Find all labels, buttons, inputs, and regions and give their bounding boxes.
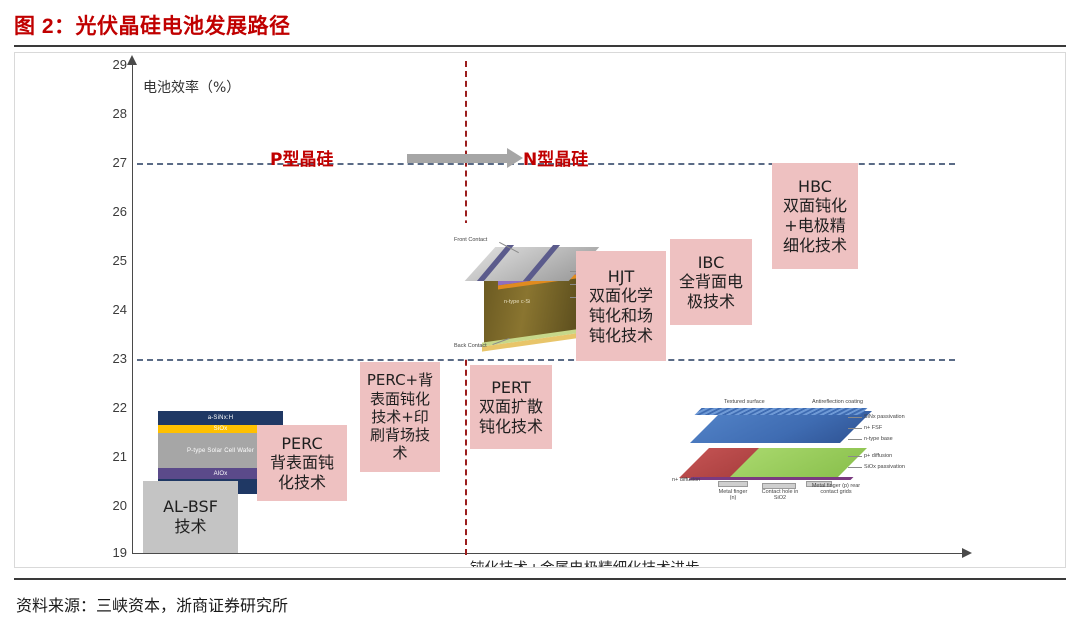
bottom-note: 钝化技术+金属电极精细化技术进步 [470, 557, 700, 568]
node-hbc-line-3: 细化技术 [783, 236, 847, 256]
plot-area: 29 28 27 26 25 24 23 22 21 20 19 电池效率（%） [15, 53, 1066, 568]
y-tick-25: 25 [99, 253, 127, 268]
ibc-textured-surface [695, 408, 868, 415]
node-ibc-line-0: IBC [698, 253, 725, 273]
page-title: 图 2：光伏晶硅电池发展路径 [14, 10, 291, 40]
ibc-label-ntype-base: n-type base [864, 436, 893, 442]
node-perc-plus-line-3: 刷背场技 [370, 426, 430, 444]
y-tick-26: 26 [99, 204, 127, 219]
y-tick-24: 24 [99, 302, 127, 317]
node-al-bsf-line-0: AL-BSF [163, 497, 218, 517]
node-perc-plus-line-0: PERC+背 [367, 371, 433, 389]
progress-arrow-icon [407, 154, 507, 163]
x-axis-line [132, 553, 962, 554]
node-hbc-line-1: 双面钝化 [783, 196, 847, 216]
ibc-label-p-diffusion: p+ diffusion [864, 453, 892, 459]
source-note: 资料来源：三峡资本，浙商证券研究所 [16, 592, 288, 616]
ibc-label-contact-hole: Contact hole in SiO2 [760, 489, 800, 501]
node-perc[interactable]: PERC 背表面钝 化技术 [257, 425, 347, 501]
y-tick-28: 28 [99, 106, 127, 121]
ibc-metal-pad-1 [718, 481, 748, 487]
node-hjt[interactable]: HJT 双面化学 钝化和场 钝化技术 [576, 251, 666, 361]
x-axis-arrow [962, 548, 972, 558]
ibc-leader-1 [848, 417, 862, 418]
node-pert[interactable]: PERT 双面扩散 钝化技术 [470, 365, 552, 449]
node-perc-plus-line-1: 表面钝化 [370, 390, 430, 408]
y-axis-ticks: 29 28 27 26 25 24 23 22 21 20 19 [93, 53, 127, 568]
node-perc-line-0: PERC [281, 434, 322, 454]
node-perc-plus[interactable]: PERC+背 表面钝化 技术+印 刷背场技 术 [360, 362, 440, 472]
node-pert-line-2: 钝化技术 [479, 417, 543, 437]
y-axis-label: 电池效率（%） [143, 77, 240, 97]
ibc-rear-edge [689, 477, 854, 480]
gridline-23 [137, 359, 955, 361]
node-pert-line-1: 双面扩散 [479, 397, 543, 417]
node-hjt-line-0: HJT [608, 267, 635, 287]
node-ibc-line-1: 全背面电 [679, 272, 743, 292]
node-pert-line-0: PERT [491, 378, 530, 398]
ibc-leader-3 [848, 439, 862, 440]
node-hjt-line-3: 钝化技术 [589, 326, 653, 346]
ibc-leader-5 [848, 467, 862, 468]
region-label-n-type: N型晶硅 [523, 145, 588, 170]
ibc-label-siox-passivation: SiOx passivation [864, 464, 905, 470]
node-perc-plus-line-4: 术 [392, 444, 407, 462]
ibc-label-antireflection: Antireflection coating [812, 399, 863, 405]
ibc-top-surface [690, 411, 872, 443]
node-hbc-line-2: +电极精 [784, 216, 845, 236]
footer-divider [14, 578, 1066, 580]
ibc-label-n-fsf: n+ FSF [864, 425, 882, 431]
node-perc-plus-line-2: 技术+印 [371, 408, 429, 426]
y-tick-22: 22 [99, 400, 127, 415]
stack-layer-sinx-top: a-SiNx:H [158, 411, 283, 425]
node-hbc-line-0: HBC [798, 177, 832, 197]
y-tick-20: 20 [99, 498, 127, 513]
node-hjt-line-2: 钝化和场 [589, 306, 653, 326]
ibc-label-textured-surface: Textured surface [724, 399, 765, 405]
ibc-label-metal-finger-p: Metal finger (p) rear contact grids [806, 483, 866, 495]
figure-page: 图 2：光伏晶硅电池发展路径 29 28 27 26 25 24 23 22 2… [0, 0, 1080, 628]
node-al-bsf-line-1: 技术 [174, 517, 206, 537]
y-tick-27: 27 [99, 155, 127, 170]
ibc-leader-2 [848, 428, 862, 429]
ibc-label-sinx-passivation: SiNx passivation [864, 414, 905, 420]
node-ibc[interactable]: IBC 全背面电 极技术 [670, 239, 752, 325]
hjt-label-ntype-csi: n-type c-Si [504, 299, 530, 305]
hjt-label-back-contact: Back Contact [454, 343, 487, 349]
node-perc-line-2: 化技术 [278, 473, 326, 493]
hjt-label-front-contact: Front Contact [454, 237, 487, 243]
chart-container: 29 28 27 26 25 24 23 22 21 20 19 电池效率（%） [14, 52, 1066, 568]
region-label-p-type: P型晶硅 [270, 145, 333, 170]
ibc-label-n-diffusion: n+ diffusion [672, 477, 700, 483]
y-tick-29: 29 [99, 57, 127, 72]
y-tick-21: 21 [99, 449, 127, 464]
node-ibc-line-2: 极技术 [687, 292, 735, 312]
ibc-label-metal-finger-n: Metal finger (n) [716, 489, 750, 501]
node-hbc[interactable]: HBC 双面钝化 +电极精 细化技术 [772, 163, 858, 269]
node-perc-line-1: 背表面钝 [270, 453, 334, 473]
node-al-bsf[interactable]: AL-BSF 技术 [143, 481, 238, 553]
ibc-cell-3d-diagram: Textured surface Antireflection coating … [670, 393, 920, 505]
y-tick-19: 19 [99, 545, 127, 560]
header-divider [14, 45, 1066, 47]
node-hjt-line-1: 双面化学 [589, 286, 653, 306]
ibc-leader-4 [848, 456, 862, 457]
y-axis-line [132, 63, 133, 553]
y-tick-23: 23 [99, 351, 127, 366]
